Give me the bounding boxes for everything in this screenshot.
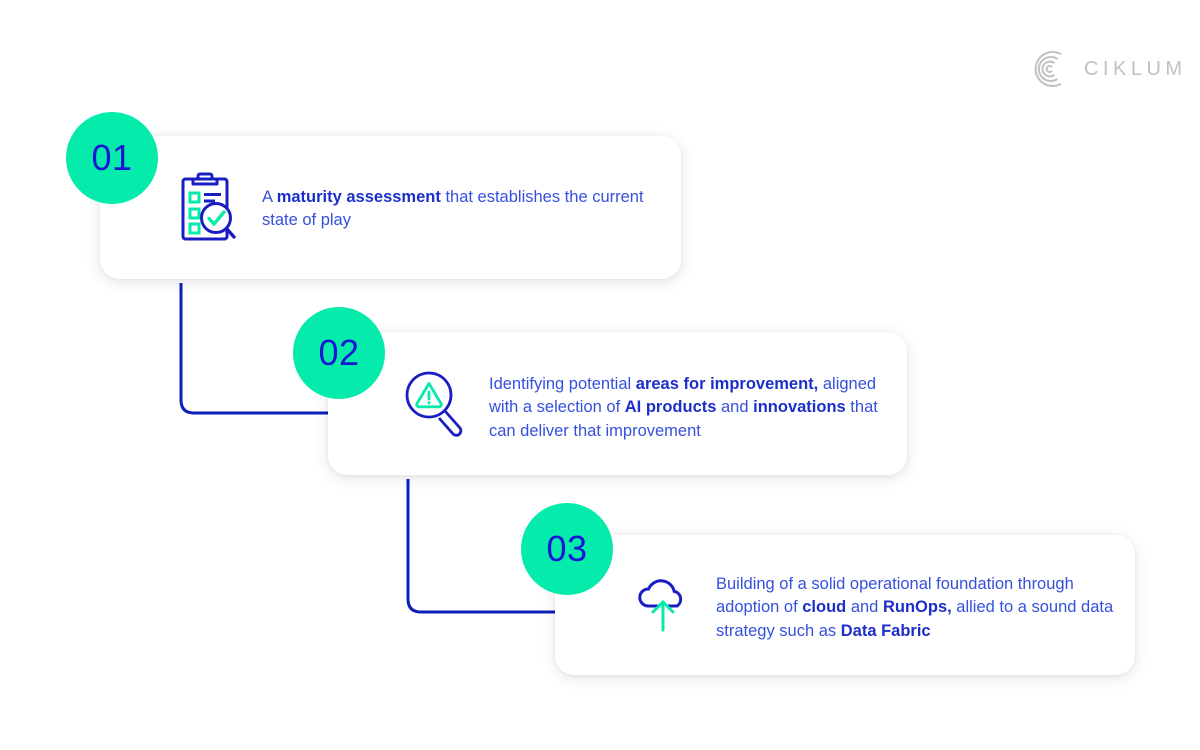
step-number-03: 03 bbox=[546, 531, 587, 567]
step-badge-01: 01 bbox=[66, 112, 158, 204]
ciklum-arcs-logo-icon bbox=[1028, 48, 1070, 90]
step-number-02: 02 bbox=[318, 335, 359, 371]
magnifier-warning-triangle-icon bbox=[404, 370, 466, 438]
step-text-01: A maturity assessment that establishes t… bbox=[262, 186, 662, 233]
step-badge-02: 02 bbox=[293, 307, 385, 399]
step-badge-03: 03 bbox=[521, 503, 613, 595]
cloud-upload-arrow-icon bbox=[632, 574, 694, 634]
brand-wordmark: CIKLUM bbox=[1084, 58, 1187, 81]
clipboard-checklist-magnifier-icon bbox=[180, 172, 236, 244]
slide-canvas: CIKLUM A maturity assessment that establ… bbox=[0, 0, 1200, 750]
step-text-02: Identifying potential areas for improvem… bbox=[489, 373, 889, 443]
step-text-03: Building of a solid operational foundati… bbox=[716, 573, 1116, 643]
brand-logo: CIKLUM bbox=[1028, 48, 1187, 90]
step-number-01: 01 bbox=[91, 140, 132, 176]
